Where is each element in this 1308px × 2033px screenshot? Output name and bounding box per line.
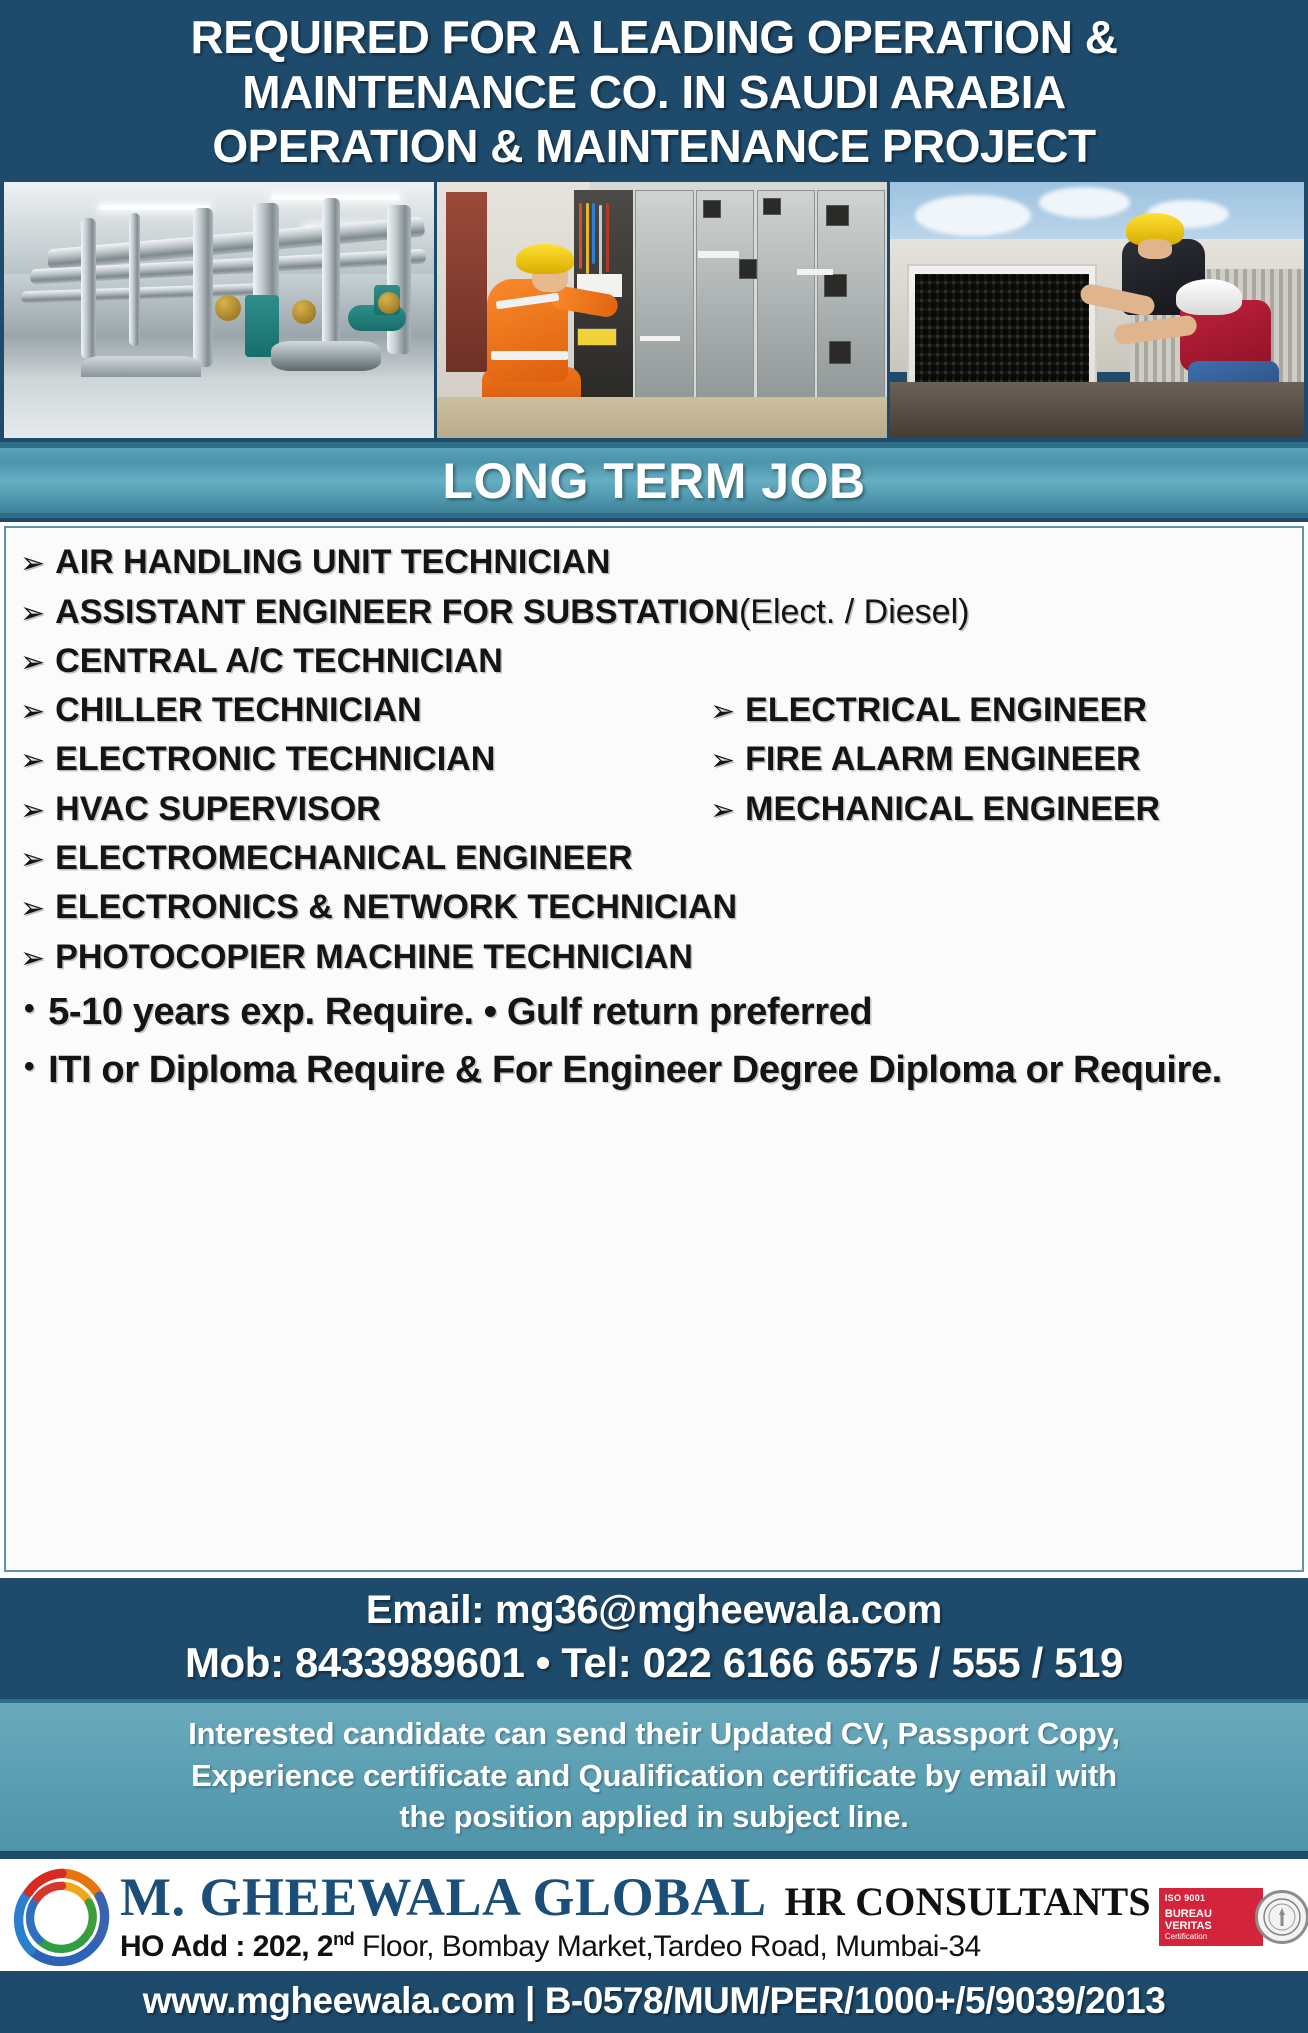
dot-bullet-icon: • — [24, 1044, 34, 1089]
hr-consultants-label: HR CONSULTANTS — [785, 1878, 1151, 1925]
job-title: FIRE ALARM ENGINEER — [745, 735, 1140, 784]
note-line-2: Experience certificate and Qualification… — [22, 1755, 1286, 1796]
application-instructions: Interested candidate can send their Upda… — [0, 1699, 1308, 1859]
arrow-bullet-icon: ➢ — [20, 739, 45, 783]
job-advertisement-poster: REQUIRED FOR A LEADING OPERATION & MAINT… — [0, 0, 1308, 2033]
job-title: ELECTRONICS & NETWORK TECHNICIAN — [55, 883, 737, 932]
job-qualifier: (Elect. / Diesel) — [739, 588, 970, 637]
job-title: PHOTOCOPIER MACHINE TECHNICIAN — [55, 933, 693, 982]
job-list-item: ➢ HVAC SUPERVISOR — [20, 785, 710, 834]
requirement-text: 5-10 years exp. Require. • Gulf return p… — [48, 986, 1288, 1040]
company-footer: M. GHEEWALA GLOBAL HR CONSULTANTS HO Add… — [0, 1859, 1308, 1971]
photo-plant-room — [4, 182, 434, 438]
photo-ac-condenser-technicians — [890, 182, 1304, 438]
company-address: HO Add : 202, 2nd Floor, Bombay Market,T… — [120, 1929, 1151, 1964]
header-line-1: REQUIRED FOR A LEADING OPERATION & — [8, 10, 1300, 65]
arrow-bullet-icon: ➢ — [20, 592, 45, 636]
job-title: ELECTRICAL ENGINEER — [745, 686, 1147, 735]
long-term-job-banner-wrap: LONG TERM JOB — [0, 442, 1308, 522]
job-list-item: ➢ MECHANICAL ENGINEER — [710, 785, 1288, 834]
requirement-item: • ITI or Diploma Require & For Engineer … — [20, 1044, 1288, 1098]
note-line-3: the position applied in subject line. — [22, 1796, 1286, 1837]
email-line[interactable]: Email: mg36@mgheewala.com — [6, 1588, 1302, 1633]
job-title: AIR HANDLING UNIT TECHNICIAN — [55, 538, 610, 587]
website-license-text[interactable]: www.mgheewala.com | B-0578/MUM/PER/1000+… — [143, 1980, 1166, 2021]
job-list-item: ➢ ELECTRICAL ENGINEER — [710, 686, 1288, 735]
website-license-bar: www.mgheewala.com | B-0578/MUM/PER/1000+… — [0, 1971, 1308, 2033]
arrow-bullet-icon: ➢ — [20, 641, 45, 685]
requirement-item: • 5-10 years exp. Require. • Gulf return… — [20, 986, 1288, 1040]
job-title: ELECTRONIC TECHNICIAN — [55, 735, 495, 784]
job-row-two-column: ➢ CHILLER TECHNICIAN ➢ ELECTRICAL ENGINE… — [20, 686, 1288, 735]
arrow-bullet-icon: ➢ — [710, 690, 735, 734]
phone-line[interactable]: Mob: 8433989601 • Tel: 022 6166 6575 / 5… — [6, 1639, 1302, 1687]
iso-body: BUREAU VERITAS — [1165, 1908, 1257, 1932]
requirement-text: ITI or Diploma Require & For Engineer De… — [48, 1044, 1288, 1098]
job-title: HVAC SUPERVISOR — [55, 785, 381, 834]
dot-bullet-icon: • — [24, 986, 34, 1031]
company-logo-icon — [10, 1865, 114, 1969]
arrow-bullet-icon: ➢ — [20, 937, 45, 981]
address-prefix: HO Add : 202, 2 — [120, 1930, 333, 1963]
arrow-bullet-icon: ➢ — [20, 690, 45, 734]
ad-header: REQUIRED FOR A LEADING OPERATION & MAINT… — [0, 0, 1308, 182]
job-title: ELECTROMECHANICAL ENGINEER — [55, 834, 632, 883]
arrow-bullet-icon: ➢ — [20, 789, 45, 833]
job-list-item: ➢ ASSISTANT ENGINEER FOR SUBSTATION (Ele… — [20, 588, 1288, 637]
address-rest: Floor, Bombay Market,Tardeo Road, Mumbai… — [354, 1930, 981, 1963]
job-title: CHILLER TECHNICIAN — [55, 686, 421, 735]
job-title: MECHANICAL ENGINEER — [745, 785, 1160, 834]
header-line-3: OPERATION & MAINTENANCE PROJECT — [8, 119, 1300, 174]
arrow-bullet-icon: ➢ — [710, 739, 735, 783]
contact-block: Email: mg36@mgheewala.com Mob: 843398960… — [0, 1578, 1308, 1699]
footer-text-block: M. GHEEWALA GLOBAL HR CONSULTANTS HO Add… — [120, 1870, 1151, 1964]
iso-standard: ISO 9001 — [1165, 1893, 1257, 1903]
job-list-item: ➢ CENTRAL A/C TECHNICIAN — [20, 637, 1288, 686]
job-row-two-column: ➢ ELECTRONIC TECHNICIAN ➢ FIRE ALARM ENG… — [20, 735, 1288, 784]
job-list-panel: ➢ AIR HANDLING UNIT TECHNICIAN ➢ ASSISTA… — [4, 526, 1304, 1572]
iso-badge-panel: ISO 9001 BUREAU VERITAS Certification — [1159, 1888, 1263, 1946]
bureau-veritas-seal-icon — [1255, 1890, 1308, 1944]
job-list-item: ➢ ELECTRONIC TECHNICIAN — [20, 735, 710, 784]
job-title: ASSISTANT ENGINEER FOR SUBSTATION — [55, 588, 739, 637]
photo-strip — [0, 182, 1308, 442]
address-ordinal-suffix: nd — [333, 1929, 354, 1949]
job-list-item: ➢ FIRE ALARM ENGINEER — [710, 735, 1288, 784]
banner-text: LONG TERM JOB — [442, 452, 865, 510]
arrow-bullet-icon: ➢ — [20, 542, 45, 586]
arrow-bullet-icon: ➢ — [20, 838, 45, 882]
iso-sub: Certification — [1165, 1932, 1257, 1941]
job-list-item: ➢ ELECTRONICS & NETWORK TECHNICIAN — [20, 883, 1288, 932]
photo-switchgear-technician — [437, 182, 887, 438]
job-title: CENTRAL A/C TECHNICIAN — [55, 637, 503, 686]
arrow-bullet-icon: ➢ — [710, 789, 735, 833]
iso-certification-badge: ISO 9001 BUREAU VERITAS Certification — [1159, 1886, 1308, 1948]
header-line-2: MAINTENANCE CO. IN SAUDI ARABIA — [8, 65, 1300, 120]
long-term-job-banner: LONG TERM JOB — [0, 442, 1308, 518]
job-row-two-column: ➢ HVAC SUPERVISOR ➢ MECHANICAL ENGINEER — [20, 785, 1288, 834]
arrow-bullet-icon: ➢ — [20, 887, 45, 931]
job-list-item: ➢ CHILLER TECHNICIAN — [20, 686, 710, 735]
note-line-1: Interested candidate can send their Upda… — [22, 1713, 1286, 1754]
brand-line: M. GHEEWALA GLOBAL HR CONSULTANTS — [120, 1870, 1151, 1925]
job-list-item: ➢ PHOTOCOPIER MACHINE TECHNICIAN — [20, 933, 1288, 982]
job-list-item: ➢ ELECTROMECHANICAL ENGINEER — [20, 834, 1288, 883]
company-name: M. GHEEWALA GLOBAL — [120, 1870, 767, 1924]
job-list-item: ➢ AIR HANDLING UNIT TECHNICIAN — [20, 538, 1288, 587]
